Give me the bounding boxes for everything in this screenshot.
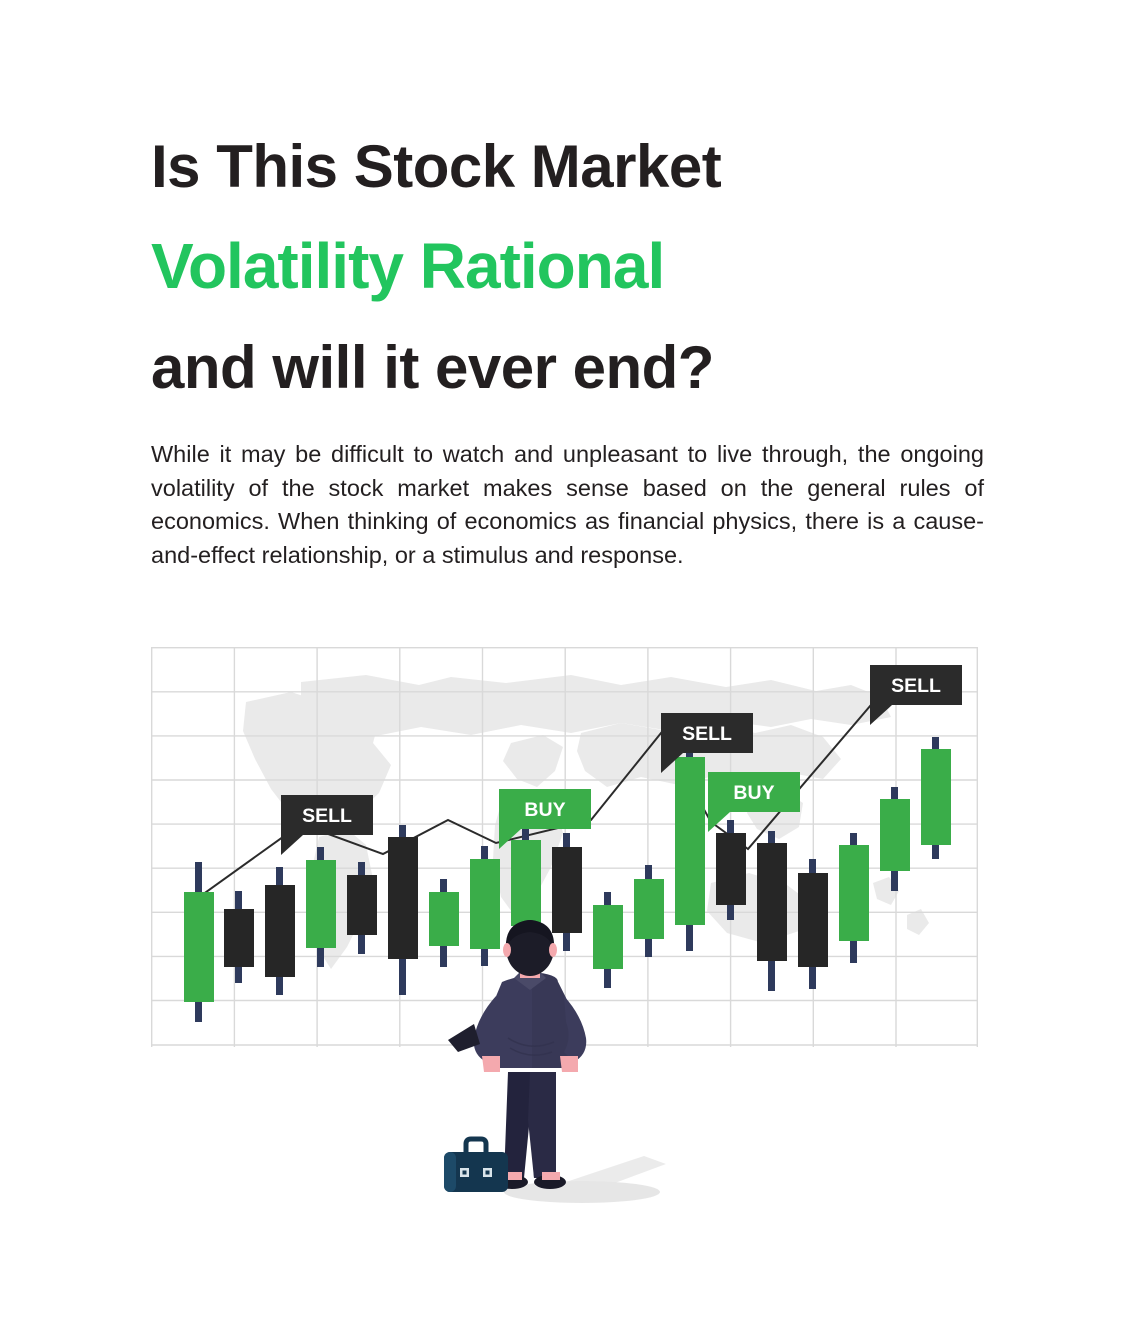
candle (388, 825, 418, 995)
candle (839, 833, 869, 963)
marker-label: BUY (524, 799, 565, 821)
businessman-illustration (430, 920, 690, 1210)
marker-label: BUY (733, 782, 774, 804)
candle (716, 820, 746, 920)
businessman-svg (430, 920, 690, 1210)
candle (921, 737, 951, 859)
candle (347, 862, 377, 954)
page-title: Is This Stock Market Volatility Rational… (151, 118, 1001, 416)
body-paragraph: While it may be difficult to watch and u… (151, 438, 984, 572)
headline-line-2-accent: Volatility Rational (151, 215, 1001, 319)
candle (880, 787, 910, 891)
ear-right (549, 943, 557, 957)
hand-right (560, 1056, 578, 1072)
poster-page: Is This Stock Market Volatility Rational… (0, 0, 1130, 1322)
headline-line-1: Is This Stock Market (151, 118, 1001, 215)
candle (265, 867, 295, 995)
candle (757, 831, 787, 991)
candle (184, 862, 214, 1022)
marker-label: SELL (302, 805, 352, 827)
marker-label: SELL (682, 723, 732, 745)
marker-label: SELL (891, 675, 941, 697)
briefcase-icon (444, 1139, 508, 1192)
ear-left (503, 943, 511, 957)
hand-left (482, 1056, 500, 1072)
trouser-highlight (528, 1072, 556, 1178)
candle (224, 891, 254, 983)
candle (798, 859, 828, 989)
headline-line-3: and will it ever end? (151, 319, 1001, 416)
body-paragraph-text: While it may be difficult to watch and u… (151, 438, 984, 572)
ankle-right (542, 1172, 560, 1180)
